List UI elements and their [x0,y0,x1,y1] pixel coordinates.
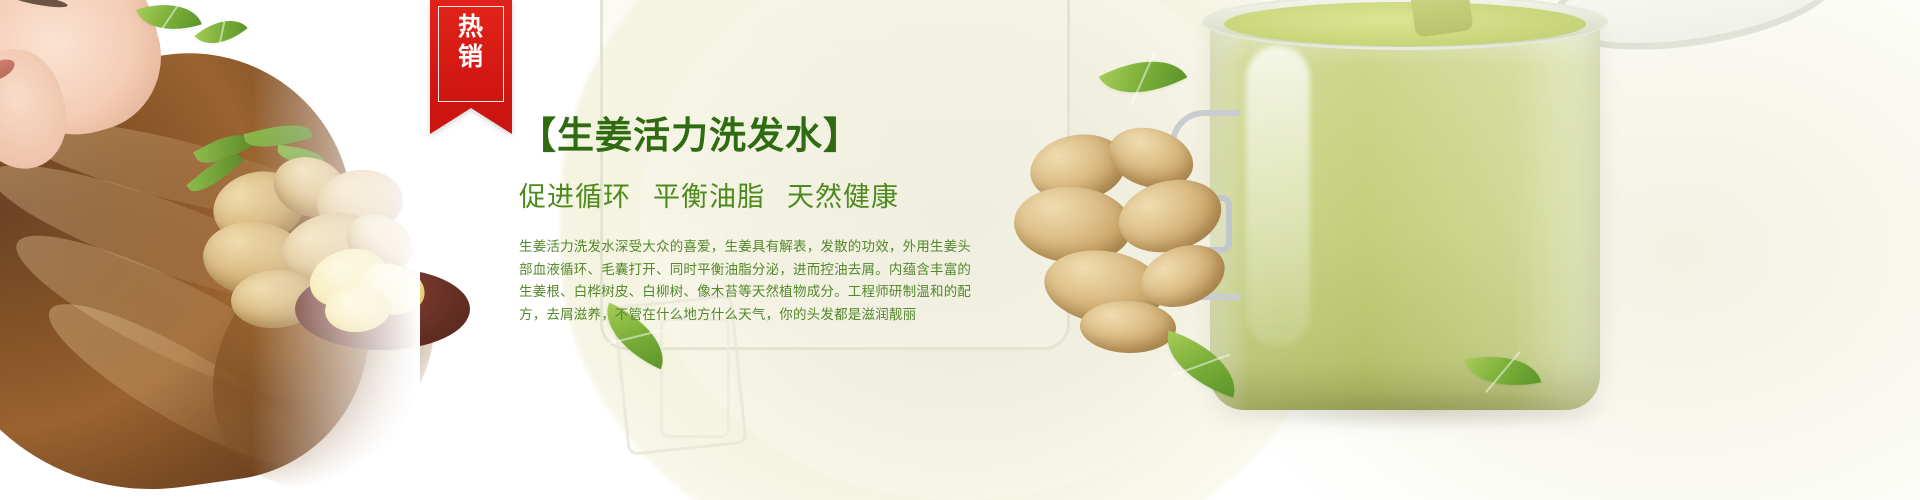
product-banner: 热 销 【生姜活力洗发水】 促进循环平衡油脂天然健康 生姜活力洗发水深受大众的喜… [0,0,1920,500]
left-white-fade [0,0,420,500]
hot-sale-char-1: 热 [430,12,512,42]
headline: 【生姜活力洗发水】 [519,112,1039,160]
jar-cream-surface [1224,2,1586,46]
body-line: 生姜根、白桦树皮、白柳树、像木苔等天然植物成分。工程师研制温和的配 [519,281,1004,304]
copy-block: 【生姜活力洗发水】 促进循环平衡油脂天然健康 生姜活力洗发水深受大众的喜爱，生姜… [519,112,1039,326]
body-line: 部血液循环、毛囊打开、同时平衡油脂分泌，进而控油去屑。内蕴含丰富的 [519,259,1004,282]
subhead-part-3: 天然健康 [787,182,899,212]
ginger-knob [1079,299,1177,354]
body-copy: 生姜活力洗发水深受大众的喜爱，生姜具有解表，发散的功效，外用生姜头 部血液循环、… [519,236,1004,326]
ginger-root-right [1000,125,1290,355]
body-line: 方，去屑滋养，不管在什么地方什么天气，你的头发都是滋润靓丽 [519,304,1004,327]
subheadline: 促进循环平衡油脂天然健康 [519,176,1039,218]
hot-sale-badge-text: 热 销 [430,12,512,72]
background-ghost-clasp-inner [660,318,730,438]
hot-sale-char-2: 销 [430,42,512,72]
jar-shadow [1230,390,1610,430]
hot-sale-badge: 热 销 [430,0,512,108]
body-line: 生姜活力洗发水深受大众的喜爱，生姜具有解表，发散的功效，外用生姜头 [519,236,1004,259]
subhead-part-2: 平衡油脂 [653,182,765,212]
subhead-part-1: 促进循环 [519,182,631,212]
product-jar-photo [1150,0,1910,500]
